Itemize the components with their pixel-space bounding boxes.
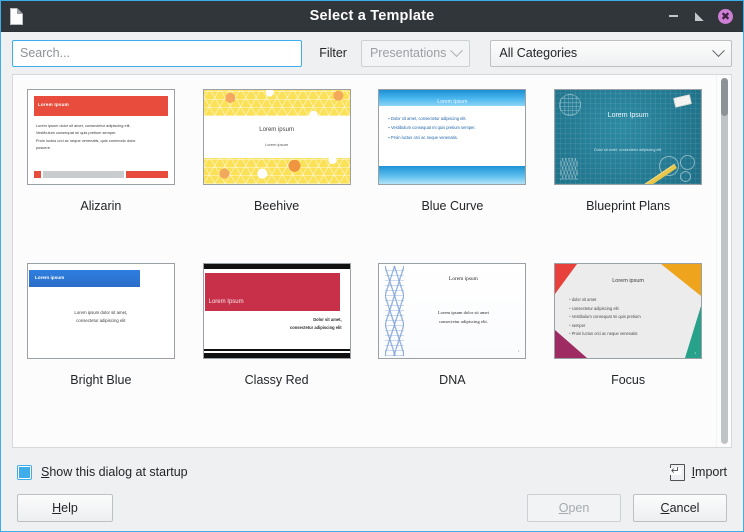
dialog-footer: Show this dialog at startup Import Help … (1, 448, 743, 531)
open-accel-letter: O (559, 501, 569, 515)
help-label-rest: elp (61, 501, 78, 515)
scrollbar-thumb[interactable] (721, 78, 728, 116)
thumb-page-number: 1 (694, 351, 696, 355)
template-thumbnail[interactable]: Lorem ipsum Lorem ipsum dolor sit amet c… (378, 263, 526, 359)
thumb-body-line: Vestibulum consequat mi quis pretium sem… (36, 129, 166, 136)
thumb-body-line: Lorem ipsum dolor sit amet, consectetur … (36, 122, 166, 129)
thumb-header: Lorem Ipsum (34, 96, 168, 116)
thumb-body: Lorem ipsum dolor sit amet consectetur a… (405, 309, 521, 326)
thumb-body: Lorem ipsum Lorem ipsum (204, 120, 350, 154)
thumb-title-text: Lorem Ipsum (555, 112, 701, 119)
template-label: Alizarin (80, 199, 121, 213)
select-template-dialog: Select a Template ✖ Filter Presentations… (0, 0, 744, 532)
template-list: Lorem Ipsum Lorem ipsum dolor sit amet, … (12, 74, 732, 448)
vertical-scrollbar[interactable] (716, 75, 731, 447)
honeycomb-band-bottom (204, 158, 350, 184)
thumb-footer (34, 171, 168, 178)
eraser-icon (673, 94, 692, 108)
thumb-bar-top (204, 264, 350, 269)
category-value: All Categories (499, 46, 577, 60)
template-item-blue-curve[interactable]: Lorem Ipsum Dolor sit amet, consectetur … (365, 81, 541, 255)
open-button[interactable]: Open (527, 494, 621, 522)
window-controls: ✖ (665, 8, 743, 25)
thumb-header: Lorem ipsum (29, 270, 140, 287)
show-at-startup-label[interactable]: Show this dialog at startup (41, 465, 188, 479)
template-grid: Lorem Ipsum Lorem ipsum dolor sit amet, … (13, 75, 716, 447)
thumb-body-line: consectetur adipiscing elit (290, 324, 342, 332)
thumb-title-text: Lorem ipsum (405, 276, 521, 282)
thumb-body-line: Proin luctus orci ac neque venenatis, qu… (36, 137, 166, 144)
template-item-focus[interactable]: Lorem ipsum dolor sit amet consectetur a… (540, 255, 716, 429)
thumb-bullet: Dolor sit amet, consectetur adipiscing e… (388, 114, 516, 123)
template-item-dna[interactable]: Lorem ipsum Lorem ipsum dolor sit amet c… (365, 255, 541, 429)
template-item-blueprint-plans[interactable]: Lorem Ipsum Dolor sit amet, consectetur … (540, 81, 716, 255)
template-label: Bright Blue (70, 373, 131, 387)
thumb-bullet: dolor sit amet (569, 296, 691, 305)
thumb-title-text: Lorem ipsum (555, 278, 701, 284)
help-accel-letter: H (52, 501, 61, 515)
category-dropdown[interactable]: All Categories (490, 40, 732, 67)
thumb-bullet: Proin luctus orci ac neque venenatis. (388, 133, 516, 142)
template-type-value: Presentations (370, 46, 446, 60)
thumb-bullet: Vestibulum consequat mi quis pretium (569, 313, 691, 322)
cancel-label-rest: ancel (670, 501, 700, 515)
window-title: Select a Template (1, 8, 743, 24)
thumb-body-line: Dolor sit amet, (290, 316, 342, 324)
template-thumbnail[interactable]: Lorem ipsum Lorem ipsum dolor sit amet, … (27, 263, 175, 359)
template-item-classy-red[interactable]: Lorem Ipsum Dolor sit amet, consectetur … (189, 255, 365, 429)
thumb-body-line: Lorem ipsum dolor sit amet (405, 309, 521, 318)
template-label: Blueprint Plans (586, 199, 670, 213)
chevron-down-icon (712, 44, 725, 57)
thumb-bullet: consectetur adipiscing elit (569, 305, 691, 314)
thumb-bar-bottom (204, 353, 350, 358)
thumb-header-text: Lorem ipsum (35, 275, 64, 280)
thumb-bullets: Dolor sit amet, consectetur adipiscing e… (388, 114, 516, 142)
thumb-header: Lorem Ipsum (379, 90, 525, 106)
maximize-icon[interactable] (691, 8, 708, 25)
open-label-rest: pen (568, 501, 589, 515)
cancel-accel-letter: C (661, 501, 670, 515)
document-icon (1, 1, 32, 32)
thumb-body-line: consectetur adipiscing elit (28, 317, 174, 325)
close-icon[interactable]: ✖ (717, 8, 734, 25)
template-thumbnail[interactable]: Lorem Ipsum Lorem ipsum dolor sit amet, … (27, 89, 175, 185)
show-at-startup-checkbox[interactable] (17, 465, 32, 480)
template-thumbnail[interactable]: Lorem Ipsum Dolor sit amet, consectetur … (554, 89, 702, 185)
thumb-body-line: consectetur adipiscing elit. (405, 318, 521, 327)
gear-icon (680, 171, 691, 182)
thumb-body-line: posuere. (36, 144, 166, 151)
thumb-header-text: Lorem Ipsum (209, 299, 244, 305)
thumb-subtitle-text: Dolor sit amet, consectetur adipiscing e… (555, 148, 701, 152)
search-input[interactable] (12, 40, 302, 67)
template-thumbnail[interactable]: Lorem Ipsum Dolor sit amet, consectetur … (378, 89, 526, 185)
titlebar: Select a Template ✖ (1, 1, 743, 32)
thumb-body-line: Lorem ipsum dolor sit amet, (28, 309, 174, 317)
help-button[interactable]: Help (17, 494, 113, 522)
thumb-bullet: semper (569, 322, 691, 331)
minimize-icon[interactable] (665, 8, 682, 25)
thumb-page-number: 1 (518, 349, 520, 353)
template-thumbnail[interactable]: Lorem ipsum dolor sit amet consectetur a… (554, 263, 702, 359)
gear-icon (680, 155, 695, 170)
thumb-body: Dolor sit amet, consectetur adipiscing e… (290, 316, 342, 332)
template-item-alizarin[interactable]: Lorem Ipsum Lorem ipsum dolor sit amet, … (13, 81, 189, 255)
template-type-dropdown[interactable]: Presentations (361, 40, 470, 67)
template-item-beehive[interactable]: Lorem ipsum Lorem ipsum Beehive (189, 81, 365, 255)
cancel-button[interactable]: Cancel (633, 494, 727, 522)
footer-buttons-row: Help Open Cancel (12, 494, 732, 522)
thumb-subtitle-text: Lorem ipsum (265, 142, 288, 147)
import-label-rest: mport (695, 465, 727, 479)
thumb-bullet: Vestibulum consequat mi quis pretium sem… (388, 123, 516, 132)
thumb-bar-middle (204, 349, 350, 351)
thumb-body: Lorem ipsum dolor sit amet, consectetur … (36, 122, 166, 152)
thumb-body: Lorem ipsum dolor sit amet, consectetur … (28, 309, 174, 325)
filter-label: Filter (319, 46, 347, 60)
chevron-down-icon (450, 44, 463, 57)
honeycomb-band-top (204, 90, 350, 116)
footer-options-row: Show this dialog at startup Import (12, 459, 732, 485)
template-label: Blue Curve (421, 199, 483, 213)
thumb-bullets: dolor sit amet consectetur adipiscing el… (569, 296, 691, 339)
template-thumbnail[interactable]: Lorem Ipsum Dolor sit amet, consectetur … (203, 263, 351, 359)
thumb-bullet: Proin luctus orci ac neque venenatis (569, 330, 691, 339)
thumb-header-text: Lorem Ipsum (437, 99, 467, 105)
dna-helix-icon (385, 266, 404, 356)
import-icon (670, 464, 685, 481)
thumb-title-text: Lorem ipsum (259, 127, 294, 133)
thumb-footer (379, 166, 525, 184)
thumb-header: Lorem Ipsum (205, 273, 341, 311)
template-thumbnail[interactable]: Lorem ipsum Lorem ipsum (203, 89, 351, 185)
template-item-bright-blue[interactable]: Lorem ipsum Lorem ipsum dolor sit amet, … (13, 255, 189, 429)
startup-label-rest: how this dialog at startup (49, 465, 187, 479)
template-label: Focus (611, 373, 645, 387)
template-label: DNA (439, 373, 465, 387)
thumb-header-text: Lorem Ipsum (38, 102, 69, 107)
compass-icon (560, 158, 578, 180)
template-label: Classy Red (245, 373, 309, 387)
scrollbar-track[interactable] (721, 78, 728, 444)
filter-bar: Filter Presentations All Categories (1, 32, 743, 74)
template-label: Beehive (254, 199, 299, 213)
import-button[interactable]: Import (670, 464, 732, 481)
checkbox-check-icon (19, 467, 30, 478)
